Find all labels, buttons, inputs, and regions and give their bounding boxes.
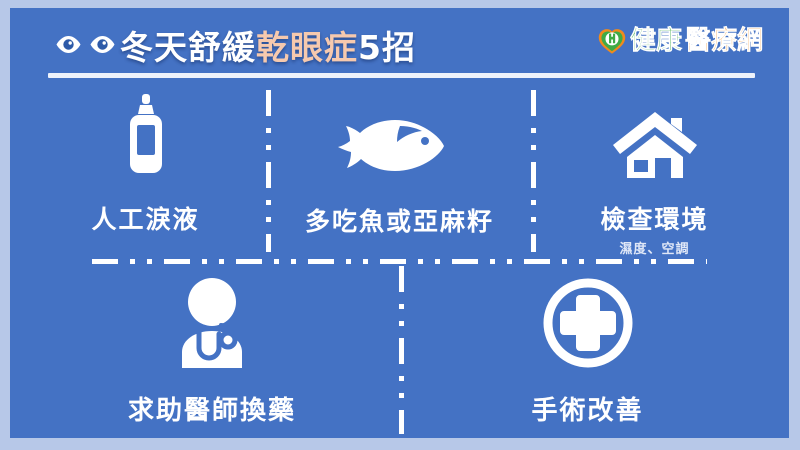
- tip-card-2[interactable]: 多吃魚或亞麻籽: [272, 94, 527, 238]
- eye-drop-bottle-icon: [119, 94, 173, 178]
- divider-horizontal: [92, 259, 707, 264]
- house-icon: [611, 112, 699, 178]
- heart-h-icon: [597, 26, 627, 56]
- tip-5-icon-wrap: [403, 276, 772, 368]
- logo-text-orange: 醫療網: [685, 26, 763, 56]
- tip-3-icon-wrap: [537, 94, 772, 178]
- tip-2-label: 多吃魚或亞麻籽: [272, 202, 527, 238]
- tip-4-icon-wrap: [28, 276, 396, 368]
- brand-logo[interactable]: 健康醫療網: [597, 24, 763, 58]
- eye-icon: [55, 35, 82, 54]
- tip-3-label: 檢查環境: [537, 200, 772, 236]
- tip-5-label: 手術改善: [403, 390, 772, 427]
- tip-2-icon-wrap: [272, 94, 527, 178]
- title-part-1: 冬天舒緩: [120, 28, 256, 67]
- doctor-stethoscope-icon: [166, 276, 258, 368]
- divider-vertical-row1-a: [266, 90, 271, 252]
- logo-text-green: 健康: [630, 26, 682, 56]
- poster-header: 冬天舒緩乾眼症5招 健康醫療網: [10, 8, 789, 70]
- eye-icon-pair: [55, 32, 117, 56]
- fish-icon: [337, 116, 462, 178]
- eye-icon: [89, 35, 116, 54]
- tip-1-label: 人工淚液: [28, 200, 263, 236]
- tip-4-label: 求助醫師換藥: [28, 390, 396, 427]
- tip-card-4[interactable]: 求助醫師換藥: [28, 276, 396, 427]
- title-underline: [48, 73, 755, 78]
- tip-3-sublabel: 濕度、空調: [537, 238, 772, 257]
- tip-card-1[interactable]: 人工淚液: [28, 94, 263, 236]
- title-part-2: 5招: [358, 28, 416, 67]
- divider-vertical-row1-b: [531, 90, 536, 252]
- tip-1-icon-wrap: [28, 94, 263, 178]
- tip-card-3[interactable]: 檢查環境 濕度、空調: [537, 94, 772, 257]
- page-title: 冬天舒緩乾眼症5招: [120, 21, 416, 69]
- title-highlight: 乾眼症: [256, 28, 358, 67]
- medical-cross-circle-icon: [543, 278, 633, 368]
- infographic-poster: 冬天舒緩乾眼症5招 健康醫療網 人工淚液: [10, 8, 789, 438]
- tip-card-5[interactable]: 手術改善: [403, 276, 772, 427]
